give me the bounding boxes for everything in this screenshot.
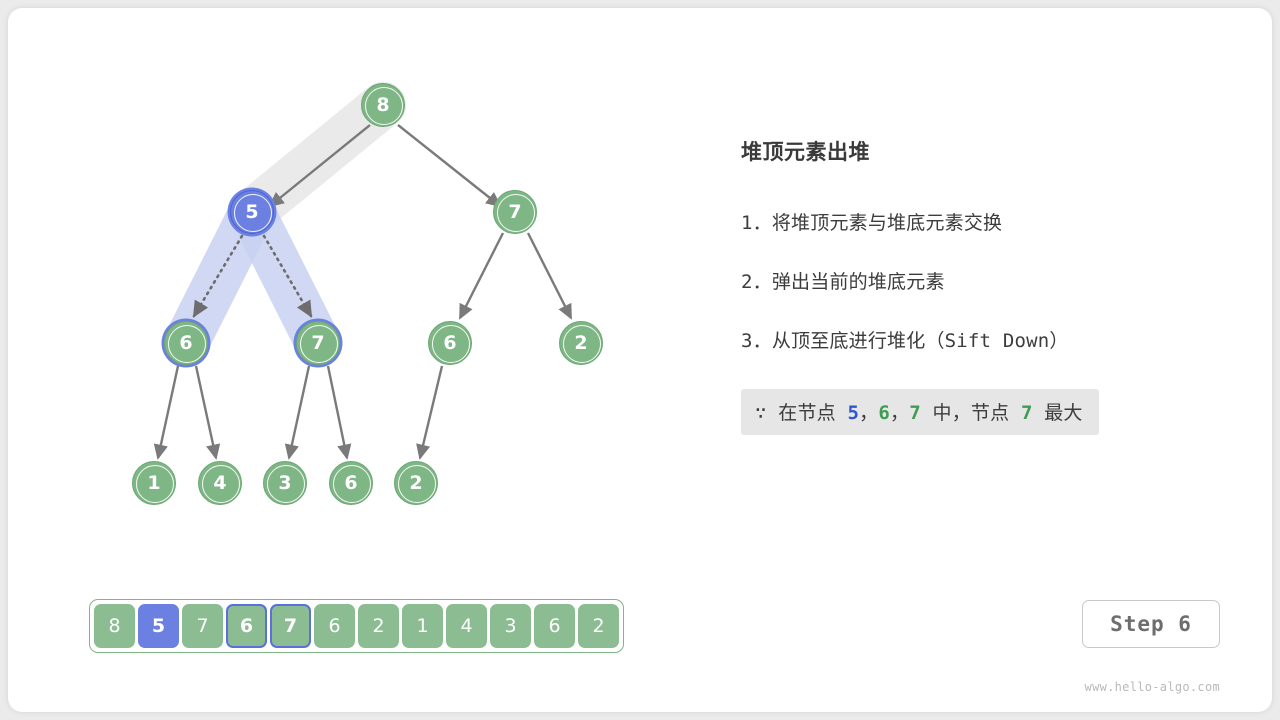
site-url-watermark: www.hello-algo.com	[1068, 680, 1220, 694]
note-text-3: 最大	[1033, 402, 1083, 424]
tree-node-7: 1	[132, 461, 176, 505]
figure-card: 857676214362 堆顶元素出堆 1．将堆顶元素与堆底元素交换 2．弹出当…	[8, 8, 1272, 712]
array-cell-value: 6	[328, 615, 340, 637]
node-label: 7	[508, 203, 521, 222]
note-value-a: 5	[848, 402, 860, 424]
array-representation: 857676214362	[89, 599, 624, 653]
note-text-1: 在节点	[778, 402, 847, 424]
note-sep-2: ，	[890, 402, 909, 424]
tree-node-9: 3	[263, 461, 307, 505]
node-label: 2	[409, 474, 422, 493]
node-label: 5	[245, 203, 258, 222]
edge-7-2	[528, 233, 571, 318]
figure-stage: 857676214362 堆顶元素出堆 1．将堆顶元素与堆底元素交换 2．弹出当…	[8, 8, 1272, 712]
node-label: 3	[278, 474, 291, 493]
step-line-1: 1．将堆顶元素与堆底元素交换	[741, 208, 1241, 235]
array-cell: 7	[270, 604, 311, 648]
tree-node-6: 2	[559, 321, 603, 365]
array-cell-value: 2	[372, 615, 384, 637]
node-label: 7	[311, 334, 324, 353]
edge-7-6	[460, 233, 503, 318]
step-badge: Step 6	[1082, 600, 1220, 648]
info-panel: 堆顶元素出堆 1．将堆顶元素与堆底元素交换 2．弹出当前的堆底元素 3．从顶至底…	[741, 136, 1241, 435]
band-root-to-child	[252, 105, 383, 212]
array-cell: 5	[138, 604, 179, 648]
step-line-2: 2．弹出当前的堆底元素	[741, 267, 1241, 294]
array-cell: 2	[358, 604, 399, 648]
tree-node-8: 4	[198, 461, 242, 505]
note-value-c: 7	[909, 402, 921, 424]
array-cell: 6	[534, 604, 575, 648]
page-title: 堆顶元素出堆	[741, 136, 1241, 166]
array-cell: 6	[314, 604, 355, 648]
array-cell: 4	[446, 604, 487, 648]
step-line-3: 3．从顶至底进行堆化（Sift Down）	[741, 326, 1241, 353]
tree-node-0: 8	[361, 83, 405, 127]
array-cell-value: 3	[504, 615, 516, 637]
edge-6-4	[196, 366, 216, 458]
because-symbol: ∵	[755, 402, 767, 424]
edge-7b-6	[328, 366, 347, 458]
node-label: 6	[179, 334, 192, 353]
tree-node-2: 7	[493, 190, 537, 234]
array-cell-value: 8	[108, 615, 120, 637]
node-label: 8	[376, 96, 389, 115]
node-label: 6	[443, 334, 456, 353]
array-cell-value: 7	[196, 615, 208, 637]
highlight-bands	[186, 105, 383, 343]
node-label: 2	[574, 334, 587, 353]
tree-node-5: 6	[428, 321, 472, 365]
array-cell-value: 6	[240, 615, 253, 637]
array-cell: 6	[226, 604, 267, 648]
tree-node-11: 2	[394, 461, 438, 505]
array-cell: 1	[402, 604, 443, 648]
array-cell: 7	[182, 604, 223, 648]
tree-node-1: 5	[230, 190, 274, 234]
edge-7b-3	[289, 366, 309, 458]
tree-node-4: 7	[296, 321, 340, 365]
note-text-2: 中，节点	[921, 402, 1021, 424]
edge-8-7	[398, 125, 500, 206]
array-cell: 2	[578, 604, 619, 648]
node-label: 4	[213, 474, 226, 493]
array-cell: 8	[94, 604, 135, 648]
edge-6-1	[158, 366, 178, 458]
edge-6b-2	[420, 366, 442, 458]
array-cell-value: 4	[460, 615, 472, 637]
reason-note: ∵ 在节点 5，6，7 中，节点 7 最大	[741, 389, 1099, 435]
array-cell-value: 2	[592, 615, 604, 637]
array-cell: 3	[490, 604, 531, 648]
node-label: 1	[147, 474, 160, 493]
node-label: 6	[344, 474, 357, 493]
array-cell-value: 5	[152, 615, 165, 637]
array-cell-value: 6	[548, 615, 560, 637]
note-sep-1: ，	[859, 402, 878, 424]
tree-node-10: 6	[329, 461, 373, 505]
array-cell-value: 1	[416, 615, 428, 637]
note-value-b: 6	[878, 402, 890, 424]
array-cell-value: 7	[284, 615, 297, 637]
note-value-d: 7	[1021, 402, 1033, 424]
tree-node-3: 6	[164, 321, 208, 365]
